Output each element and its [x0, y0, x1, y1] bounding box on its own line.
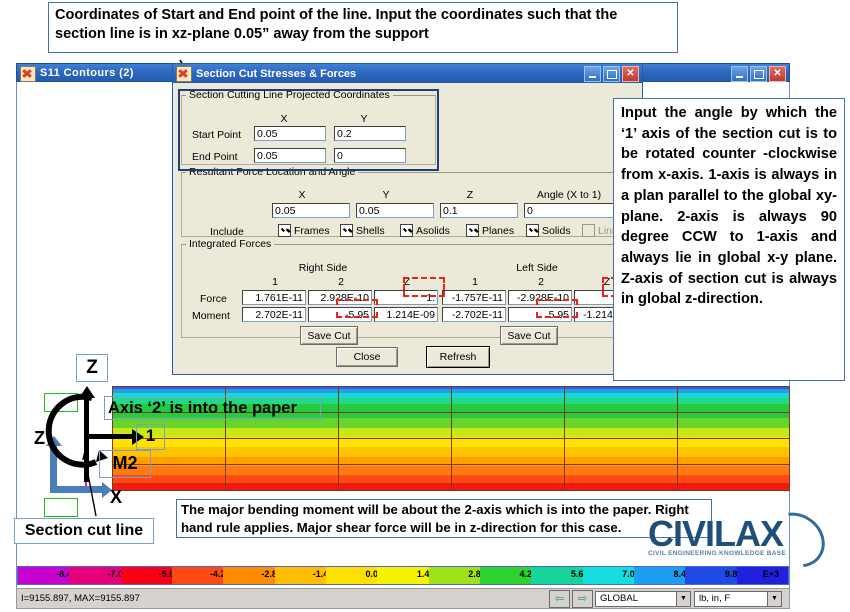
checkbox-planes-label: Planes [482, 225, 514, 237]
check-icon [466, 224, 479, 237]
resultant-z-input[interactable]: 0.1 [440, 203, 518, 218]
check-icon [278, 224, 291, 237]
checkbox-solids-label: Solids [542, 225, 571, 237]
save-cut-left-button[interactable]: Save Cut [500, 326, 558, 345]
integrated-col-header-l1: 1 [444, 276, 506, 288]
legend-segment: 8.40 [634, 567, 685, 584]
legend-segment: 7.00 [583, 567, 634, 584]
integrated-col-header-rz: Z [376, 276, 438, 288]
legend-segment: 2.80 [429, 567, 480, 584]
axis-label-1: 1 [136, 424, 165, 450]
status-bar: I=9155.897, MAX=9155.897 ⇦ ⇨ GLOBAL ▼ lb… [16, 588, 790, 609]
close-button[interactable]: Close [336, 347, 398, 367]
moment-right-z: 1.214E-09 [374, 307, 438, 322]
coord-system-value: GLOBAL [596, 593, 642, 604]
force-right-1: 1.761E-11 [242, 290, 306, 305]
bending-moment-note: The major bending moment will be about t… [176, 499, 712, 538]
resultant-col-header-x: X [272, 189, 332, 201]
global-z-arrowhead [46, 436, 62, 446]
group-coords-legend: Section Cutting Line Projected Coordinat… [186, 89, 393, 101]
side-header-right: Right Side [268, 262, 378, 274]
checkbox-asolids-label: Asolids [416, 225, 450, 237]
dialog-body: Section Cutting Line Projected Coordinat… [173, 83, 642, 374]
check-icon [400, 224, 413, 237]
axis-label-m2: M2 [99, 450, 151, 478]
resultant-col-header-y: Y [356, 189, 416, 201]
contour-color-legend: -8.40 -7.00 -5.60 -4.20 -2.80 -1.40 0.00… [17, 566, 789, 585]
axis-label-z-big-text: Z [86, 357, 98, 378]
resultant-y-input[interactable]: 0.05 [356, 203, 434, 218]
legend-segment: -5.60 [121, 567, 172, 584]
section-cut-dialog: Section Cut Stresses & Forces ✕ Section … [172, 63, 643, 375]
refresh-button[interactable]: Refresh [426, 346, 490, 368]
dialog-window-buttons: ✕ [584, 66, 639, 82]
right-annotation-callout: Input the angle by which the ‘1’ axis of… [613, 98, 845, 381]
coords-col-header-x: X [254, 113, 314, 125]
start-point-x-input[interactable]: 0.05 [254, 126, 326, 141]
legend-segment: E+3 [737, 567, 788, 584]
checkbox-frames-label: Frames [294, 225, 330, 237]
legend-segment: 9.80 [685, 567, 736, 584]
checkbox-shells-label: Shells [356, 225, 385, 237]
group-integrated-legend: Integrated Forces [186, 238, 274, 250]
dialog-maximize-button[interactable] [603, 66, 620, 82]
resultant-col-header-angle: Angle (X to 1) [522, 189, 616, 201]
support-marker-top [44, 393, 78, 412]
global-x-arrow [50, 486, 104, 493]
model-window-title: S11 Contours (2) [40, 67, 134, 79]
check-icon [582, 224, 595, 237]
resultant-x-input[interactable]: 0.05 [272, 203, 350, 218]
group-resultant-legend: Resultant Force Location and Angle [186, 166, 358, 178]
group-integrated-forces: Integrated Forces Right Side Left Side 1… [181, 238, 633, 338]
top-annotation-callout: Coordinates of Start and End point of th… [48, 2, 678, 53]
model-close-button[interactable]: ✕ [769, 66, 786, 82]
support-marker-bottom [44, 498, 78, 517]
dialog-app-icon [176, 66, 192, 82]
screenshot-root: Z Z X 1 M2 Axis ‘2’ is into the paper Se… [0, 0, 850, 612]
force-right-2: 2.928E-10 [308, 290, 372, 305]
end-point-x-input[interactable]: 0.05 [254, 148, 326, 163]
integrated-row-label-moment: Moment [192, 310, 230, 322]
checkbox-planes[interactable]: Planes [466, 224, 514, 237]
coord-system-select[interactable]: GLOBAL ▼ [595, 591, 691, 607]
legend-segment: -2.80 [223, 567, 274, 584]
min-max-readout: I=9155.897, MAX=9155.897 [21, 593, 140, 604]
chevron-down-icon: ▼ [767, 592, 781, 606]
checkbox-shells[interactable]: Shells [340, 224, 385, 237]
legend-segment: 0.00 [326, 567, 377, 584]
units-value: lb, in, F [695, 593, 734, 604]
local-1-axis-arrow [86, 434, 134, 439]
axis-label-x: X [110, 487, 122, 508]
dialog-titlebar[interactable]: Section Cut Stresses & Forces ✕ [173, 64, 642, 83]
moment-right-2: -5.95 [308, 307, 372, 322]
local-z-axis-arrowhead [79, 386, 95, 398]
resultant-angle-input[interactable]: 0 [524, 203, 616, 218]
integrated-col-header-r1: 1 [244, 276, 306, 288]
axis-2-note: Axis ‘2’ is into the paper [104, 396, 321, 420]
chevron-down-icon: ▼ [676, 592, 690, 606]
dialog-title: Section Cut Stresses & Forces [196, 68, 356, 80]
legend-exponent: E+3 [754, 569, 788, 579]
units-select[interactable]: lb, in, F ▼ [694, 591, 782, 607]
legend-segment: 4.20 [480, 567, 531, 584]
model-minimize-button[interactable] [731, 66, 748, 82]
save-cut-right-button[interactable]: Save Cut [300, 326, 358, 345]
legend-segment: -8.40 [18, 567, 69, 584]
right-arrow-icon[interactable]: ⇨ [572, 590, 593, 608]
coords-row-label-end: End Point [192, 151, 238, 163]
coords-col-header-y: Y [334, 113, 394, 125]
dialog-minimize-button[interactable] [584, 66, 601, 82]
legend-segment: 1.40 [377, 567, 428, 584]
checkbox-frames[interactable]: Frames [278, 224, 330, 237]
axis-label-z-big: Z [76, 354, 108, 382]
model-window-buttons: ✕ [731, 66, 786, 82]
local-z-axis-arrow [84, 396, 89, 482]
moment-left-1: -2.702E-11 [442, 307, 506, 322]
include-label: Include [210, 226, 244, 238]
axis-label-z-small: Z [34, 428, 45, 449]
check-icon [340, 224, 353, 237]
integrated-row-label-force: Force [200, 293, 227, 305]
app-icon [20, 66, 36, 82]
moment-right-1: 2.702E-11 [242, 307, 306, 322]
legend-segment: -4.20 [172, 567, 223, 584]
left-arrow-icon[interactable]: ⇦ [549, 590, 570, 608]
integrated-col-header-r2: 2 [310, 276, 372, 288]
side-header-left: Left Side [482, 262, 592, 274]
legend-segment: -1.40 [275, 567, 326, 584]
legend-segment: -7.00 [69, 567, 120, 584]
resultant-col-header-z: Z [440, 189, 500, 201]
integrated-col-header-l2: 2 [510, 276, 572, 288]
checkbox-asolids[interactable]: Asolids [400, 224, 450, 237]
group-resultant-force: Resultant Force Location and Angle X Y Z… [181, 166, 633, 237]
checkbox-solids[interactable]: Solids [526, 224, 571, 237]
force-right-z: 1. [374, 290, 438, 305]
moment-left-2: 5.95 [508, 307, 572, 322]
global-z-arrow [50, 443, 57, 491]
check-icon [526, 224, 539, 237]
coords-row-label-start: Start Point [192, 129, 241, 141]
end-point-y-input[interactable]: 0 [334, 148, 406, 163]
force-left-2: -2.928E-10 [508, 290, 572, 305]
section-cut-line-label: Section cut line [14, 518, 154, 544]
start-point-y-input[interactable]: 0.2 [334, 126, 406, 141]
legend-segment: 5.60 [531, 567, 582, 584]
force-left-1: -1.757E-11 [442, 290, 506, 305]
dialog-close-button[interactable]: ✕ [622, 66, 639, 82]
group-section-cutting-coords: Section Cutting Line Projected Coordinat… [181, 89, 436, 165]
model-maximize-button[interactable] [750, 66, 767, 82]
